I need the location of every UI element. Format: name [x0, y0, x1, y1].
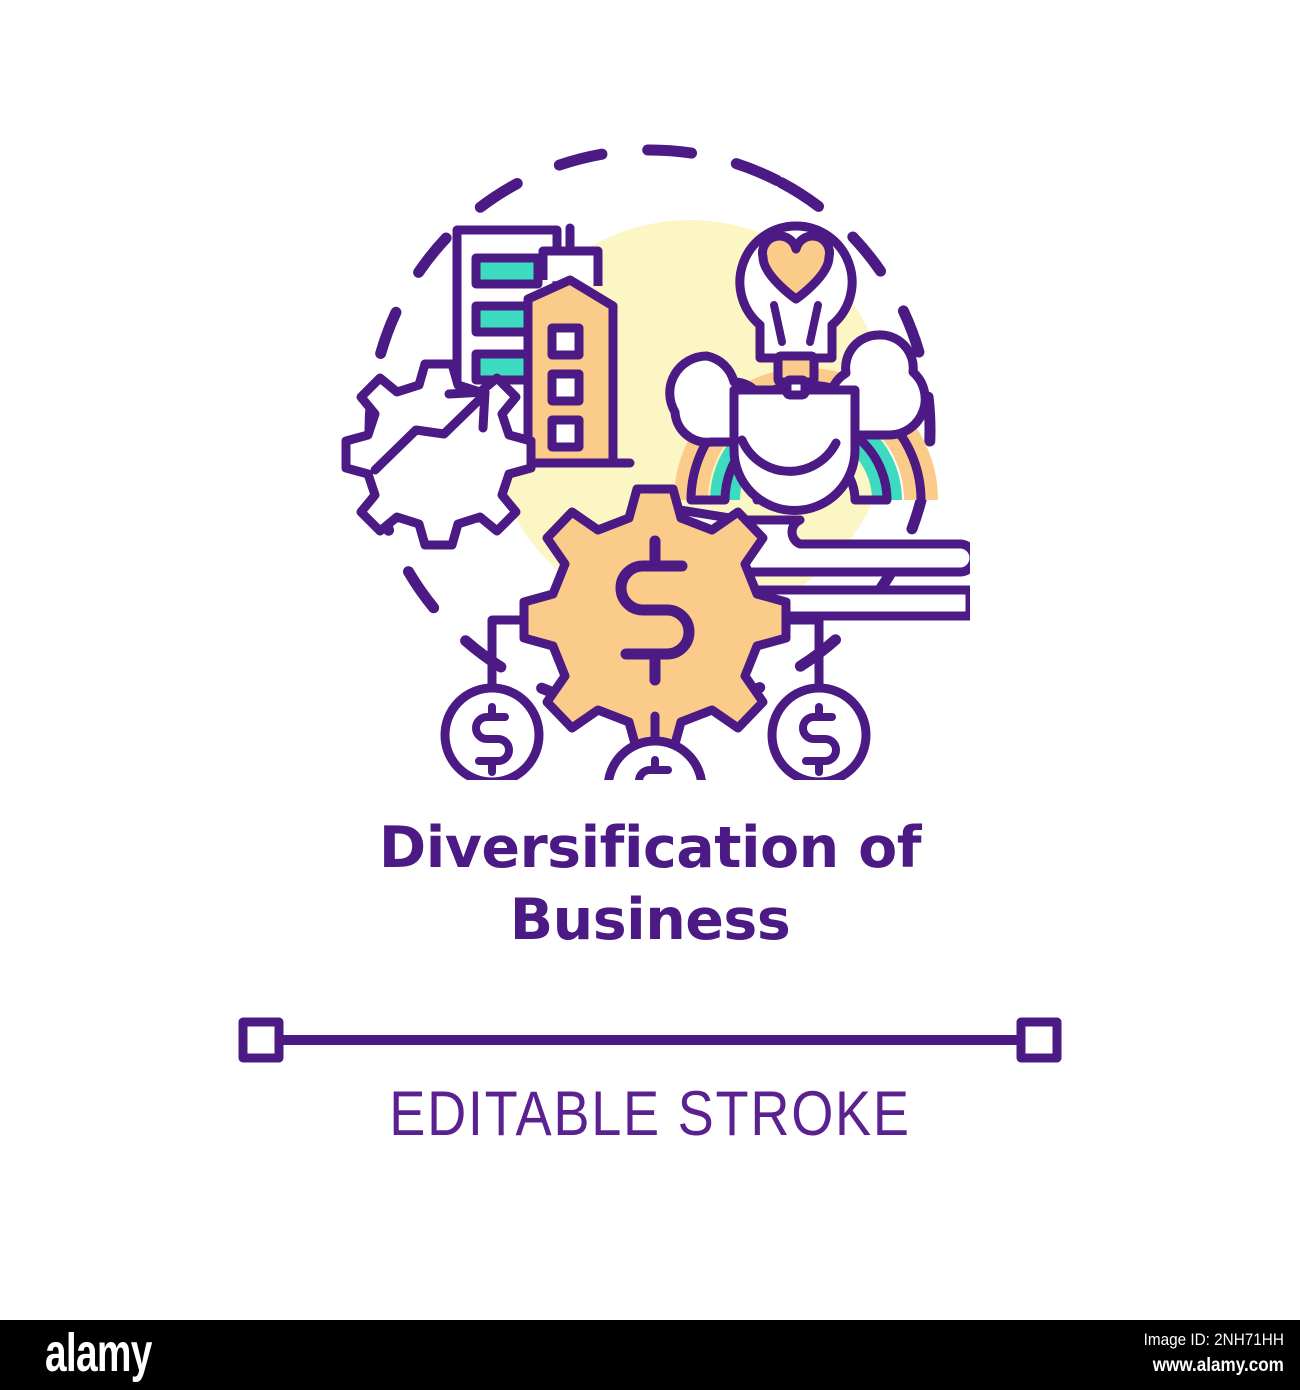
alamy-footer-bar: [0, 1320, 1300, 1390]
dollar-coin-left: [445, 688, 539, 780]
page-title-line-1: Diversification of: [0, 812, 1300, 884]
screenshot-canvas: Diversification of Business EDITABLE STR…: [0, 0, 1300, 1390]
alamy-logo: alamy: [45, 1326, 152, 1380]
page-title-line-2: Business: [0, 884, 1300, 956]
stroke-indicator: [238, 1014, 1062, 1066]
stroke-handle-left: [243, 1022, 279, 1058]
dollar-coin-center: [608, 741, 702, 780]
concept-icon-illustration: [330, 120, 970, 780]
dollar-coin-right: [772, 688, 866, 780]
image-id-label: Image ID: 2NH71HH: [1144, 1327, 1284, 1353]
alamy-website-link[interactable]: www.alamy.com: [1144, 1353, 1284, 1379]
stroke-handle-right: [1021, 1022, 1057, 1058]
page-title: Diversification of Business: [0, 812, 1300, 956]
footer-metadata: Image ID: 2NH71HH www.alamy.com: [1144, 1327, 1284, 1379]
editable-stroke-label: EDITABLE STROKE: [91, 1078, 1209, 1150]
gear-with-growth-arrow: [346, 364, 531, 545]
